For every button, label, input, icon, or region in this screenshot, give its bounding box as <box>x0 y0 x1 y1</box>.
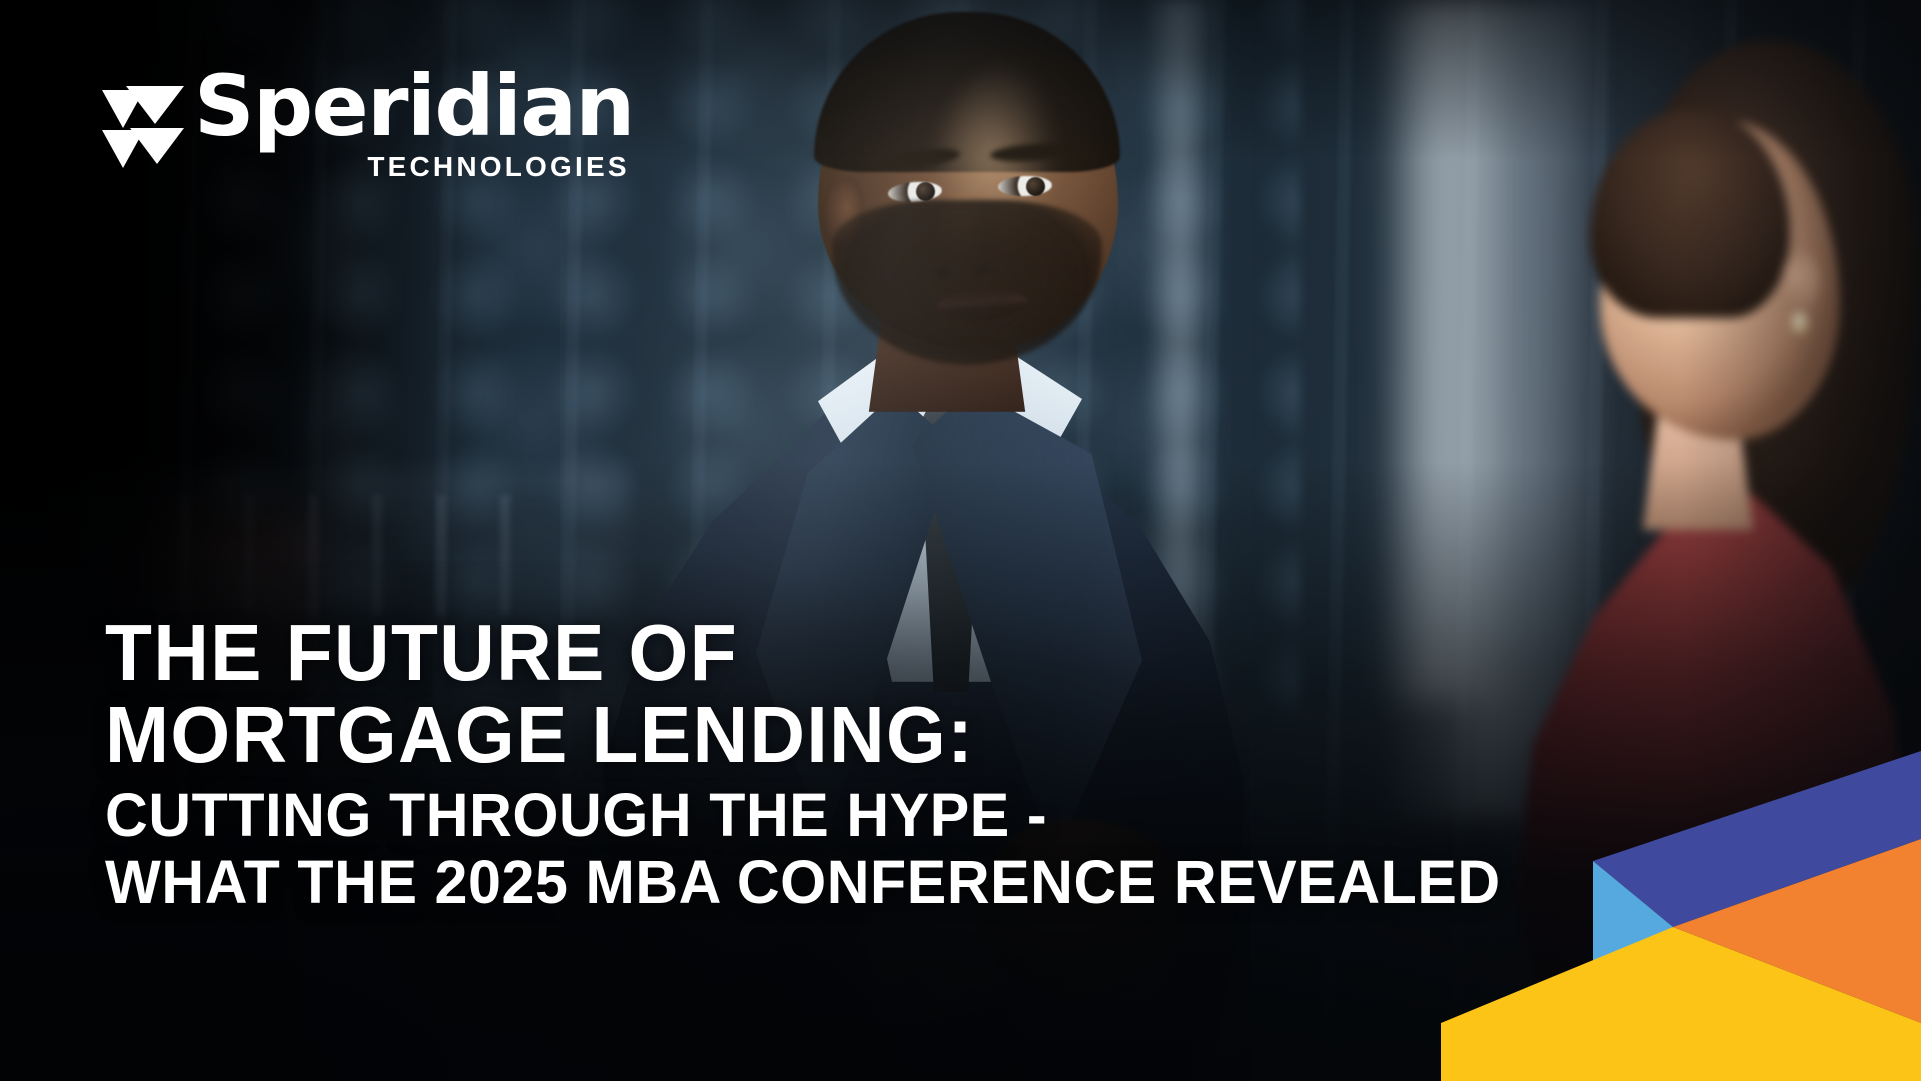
logo-wordmark: Speridian <box>194 68 634 145</box>
speridian-logo[interactable]: Speridian TECHNOLOGIES <box>100 68 634 183</box>
headline-line-2: MORTGAGE LENDING: <box>105 694 1382 776</box>
logo-tagline: TECHNOLOGIES <box>194 151 634 183</box>
geometric-corner-accent <box>1441 751 1921 1081</box>
speridian-hexagon-triangles-mark-icon <box>100 68 186 172</box>
headline-line-1: THE FUTURE OF <box>105 612 1382 694</box>
headline-line-3: CUTTING THROUGH THE HYPE - <box>105 783 1395 848</box>
marketing-banner: Speridian TECHNOLOGIES THE FUTURE OF MOR… <box>0 0 1921 1081</box>
headline-block: THE FUTURE OF MORTGAGE LENDING: CUTTING … <box>105 612 1435 915</box>
man-beard <box>832 200 1102 365</box>
man-pupil-left <box>916 182 935 201</box>
headline-line-4: WHAT THE 2025 MBA CONFERENCE REVEALED <box>105 850 1395 915</box>
man-pupil-right <box>1026 177 1045 196</box>
